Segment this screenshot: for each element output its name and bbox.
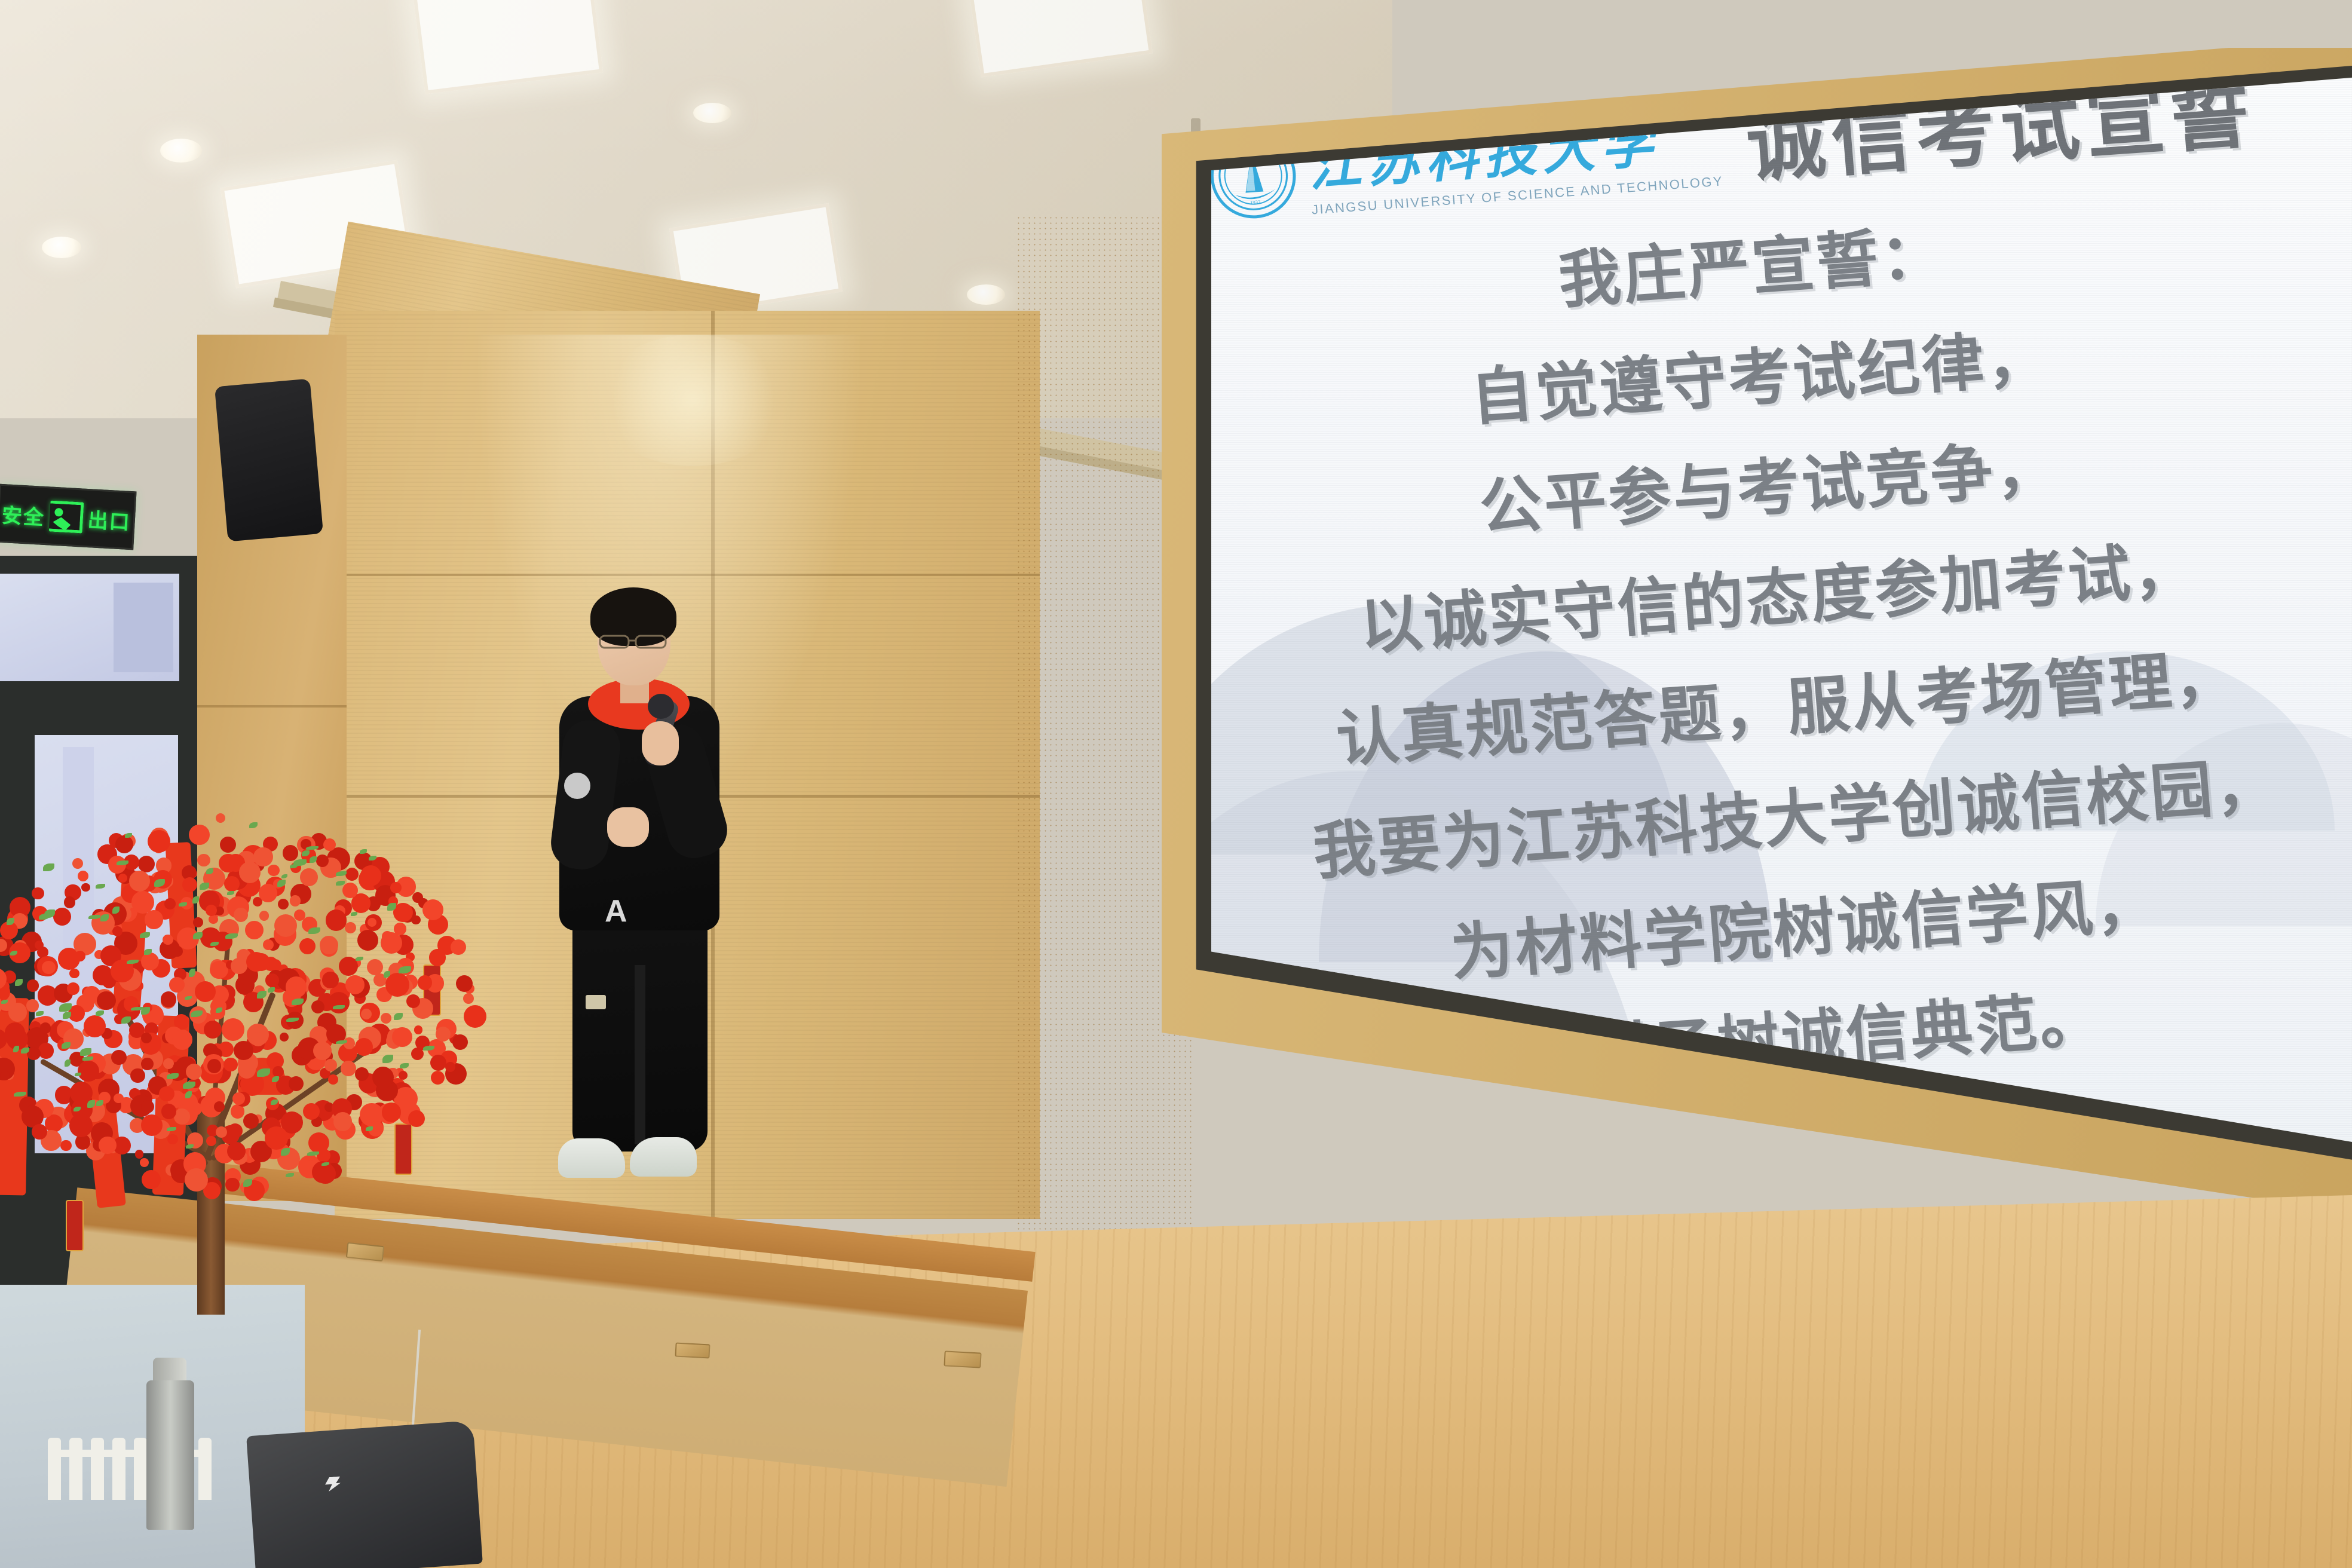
- blossom-petal: [283, 845, 299, 861]
- shoe-left: [558, 1138, 625, 1178]
- stage-monitor-speaker: [246, 1420, 483, 1568]
- picket-fence: [48, 1422, 221, 1500]
- tree-leaf: [356, 957, 363, 961]
- blossom-petal: [429, 949, 446, 966]
- blossom-petal: [206, 905, 217, 916]
- blossom-petal: [451, 939, 467, 955]
- blossom-petal: [97, 991, 116, 1010]
- blossom-petal: [78, 1061, 99, 1082]
- tree-leaf: [43, 863, 54, 871]
- blossom-petal: [204, 1021, 222, 1039]
- blossom-petal: [227, 1142, 246, 1160]
- wood-wall-seam: [197, 705, 347, 708]
- blossom-petal: [406, 994, 420, 1008]
- ceiling-downlight: [693, 103, 731, 123]
- wish-tag: [66, 1200, 84, 1251]
- blossom-petal: [141, 1100, 154, 1113]
- tree-leaf: [249, 822, 258, 828]
- blossom-petal: [67, 982, 79, 995]
- blossom-petal: [161, 991, 177, 1007]
- blossom-petal: [135, 1150, 144, 1159]
- blossom-petal: [224, 876, 240, 892]
- blossom-petal: [174, 1108, 189, 1124]
- blossom-petal: [399, 1071, 408, 1080]
- running-person-icon: [49, 500, 84, 533]
- blossom-petal: [322, 972, 338, 988]
- blossom-petal: [141, 953, 159, 970]
- tree-leaf: [96, 884, 105, 888]
- blossom-petal: [328, 1074, 338, 1085]
- ceiling-panel-light: [413, 0, 603, 94]
- blossom-petal: [75, 951, 85, 961]
- wish-tag: [394, 1123, 412, 1175]
- blossom-petal: [234, 908, 248, 922]
- tree-leaf: [268, 987, 275, 993]
- led-screen: 1933 江苏科技大学 JIANGSU UNIVERSITY OF SCIENC…: [1189, 66, 2352, 1255]
- fence-picket: [112, 1438, 125, 1500]
- blossom-petal: [140, 1158, 149, 1167]
- blossom-petal: [324, 1059, 336, 1071]
- blossom-petal: [38, 1043, 54, 1058]
- blossom-petal: [225, 1178, 239, 1192]
- blossom-petal: [84, 1015, 106, 1037]
- blossom-petal: [231, 958, 247, 975]
- blossom-petal: [239, 862, 261, 883]
- blossom-petal: [129, 871, 150, 892]
- svg-text:1933: 1933: [1250, 198, 1261, 205]
- speaker-person: A: [514, 583, 765, 1264]
- blossom-petal: [316, 855, 329, 867]
- tree-leaf: [82, 1056, 93, 1060]
- blossom-petal: [345, 975, 365, 994]
- tree-leaf: [200, 883, 209, 890]
- hand-on-chest: [607, 807, 649, 847]
- ceiling-downlight: [160, 139, 202, 163]
- tree-leaf: [65, 1059, 71, 1067]
- blossom-petal: [311, 1000, 324, 1013]
- blossom-petal: [372, 1067, 394, 1088]
- blossom-petal: [245, 921, 264, 939]
- blossom-petal: [268, 865, 279, 876]
- tree-leaf: [382, 1055, 393, 1063]
- exit-sign-label-left: 安全: [1, 499, 46, 531]
- blossom-petal: [355, 1067, 369, 1081]
- tree-leaf: [310, 856, 317, 863]
- blossom-petal: [317, 1149, 330, 1162]
- blossom-petal: [167, 1134, 178, 1145]
- blossom-petal: [393, 903, 413, 923]
- exit-sign-label-right: 出口: [87, 504, 132, 535]
- blossom-petal: [32, 887, 44, 899]
- blossom-petal: [223, 1058, 237, 1071]
- blossom-petal: [290, 895, 301, 906]
- tree-leaf: [292, 999, 304, 1005]
- tree-leaf: [400, 1063, 409, 1068]
- blossom-petal: [381, 1013, 391, 1024]
- tree-leaf: [88, 915, 100, 919]
- tree-leaf: [36, 1011, 44, 1015]
- blossom-petal: [286, 976, 307, 998]
- blossom-petal: [146, 911, 160, 926]
- fence-picket: [48, 1438, 61, 1500]
- blossom-petal: [463, 993, 474, 1004]
- tree-leaf: [15, 979, 23, 986]
- tree-leaf: [360, 849, 367, 854]
- blossom-petal: [159, 1086, 174, 1102]
- blossom-petal: [464, 1005, 487, 1028]
- blossom-petal: [259, 911, 269, 921]
- blossom-petal: [411, 915, 421, 925]
- blossom-petal: [141, 1058, 154, 1070]
- jacket-print-label: A: [605, 893, 629, 929]
- wood-wall-seam: [335, 574, 1040, 576]
- blossom-petal: [243, 1113, 259, 1129]
- auditorium-scene: 安全 出口: [0, 0, 2352, 1568]
- trouser-gap: [635, 965, 645, 1144]
- blossom-petal: [289, 1076, 304, 1091]
- blossom-petal: [392, 1027, 412, 1047]
- blossom-petal: [141, 1033, 152, 1043]
- blossom-petal: [40, 1022, 51, 1033]
- blossom-petal: [357, 930, 378, 951]
- ceiling-downlight: [967, 284, 1005, 305]
- fence-picket: [134, 1438, 147, 1500]
- hand-holding-microphone: [642, 721, 679, 765]
- blossom-petal: [81, 883, 90, 892]
- blossom-petal: [345, 868, 359, 881]
- glasses-icon: [599, 634, 670, 650]
- blossom-petal: [197, 854, 210, 866]
- blossom-petal: [206, 1136, 216, 1146]
- blossom-petal: [219, 854, 238, 873]
- blossom-petal: [360, 865, 382, 887]
- blossom-petal: [0, 1071, 10, 1080]
- blossom-petal: [299, 938, 316, 954]
- pledge-line: 自觉遵守考试纪律，: [1467, 307, 2054, 437]
- blossom-petal: [232, 1092, 245, 1105]
- blossom-petal: [333, 1112, 353, 1131]
- blossom-petal: [186, 1064, 202, 1080]
- tree-leaf: [308, 927, 320, 934]
- blossom-petal: [115, 835, 133, 853]
- tree-leaf: [293, 859, 307, 866]
- blossom-petal: [163, 935, 173, 945]
- blossom-petal: [69, 969, 79, 978]
- tree-leaf: [140, 932, 150, 938]
- blossom-petal: [300, 868, 318, 886]
- blossom-petal: [32, 1124, 47, 1139]
- outside-building: [114, 583, 173, 672]
- blossom-petal: [27, 979, 39, 991]
- blossom-petal: [234, 1041, 253, 1060]
- blossom-petal: [265, 973, 278, 987]
- blossom-petal: [141, 1114, 163, 1136]
- blossom-petal: [72, 858, 84, 869]
- tree-leaf: [192, 896, 199, 904]
- blossom-petal: [148, 830, 170, 853]
- blossom-petal: [185, 1168, 208, 1192]
- pledge-lead-in: 我庄严宣誓：: [1555, 203, 1949, 320]
- blossom-petal: [414, 1025, 422, 1034]
- fence-picket: [198, 1438, 212, 1500]
- sleeve-badge-icon: [564, 773, 590, 799]
- blossom-petal: [64, 896, 75, 908]
- tree-leaf: [394, 1013, 403, 1020]
- stage-floor-outlet: [944, 1350, 981, 1368]
- blossom-petal: [344, 1037, 356, 1049]
- blossom-petal: [130, 1068, 145, 1083]
- blossom-petal: [111, 1050, 127, 1065]
- blossom-petal: [345, 922, 356, 933]
- trouser-tag: [586, 995, 606, 1009]
- blossom-petal: [142, 1170, 161, 1189]
- stage-floor-outlet: [675, 1342, 710, 1358]
- blossom-petal: [278, 899, 289, 909]
- blossom-petal: [382, 931, 393, 942]
- ceiling-panel-light: [969, 0, 1153, 77]
- blossom-petal: [60, 1140, 72, 1151]
- blossom-petal: [431, 1071, 445, 1085]
- fence-picket: [91, 1438, 104, 1500]
- blossom-petal: [222, 1018, 244, 1041]
- blossom-petal: [408, 1110, 425, 1127]
- tree-leaf: [87, 1100, 94, 1107]
- blossom-petal: [246, 952, 266, 972]
- microphone-head[interactable]: [648, 694, 674, 719]
- tree-leaf: [39, 914, 50, 920]
- blossom-petal: [53, 908, 71, 926]
- ceiling-downlight: [42, 237, 81, 258]
- blossom-petal: [280, 1033, 289, 1042]
- blossom-petal: [452, 1034, 468, 1050]
- blossom-petal: [251, 1032, 265, 1046]
- blossom-petal: [207, 1059, 221, 1073]
- exit-sign: 安全 出口: [0, 484, 137, 550]
- blossom-petal: [430, 1055, 446, 1071]
- tree-leaf: [286, 1173, 294, 1177]
- tree-leaf: [333, 1005, 345, 1009]
- blossom-petal: [328, 992, 350, 1013]
- tree-leaf: [281, 874, 287, 879]
- ceiling-speaker: [215, 379, 323, 542]
- tree-leaf: [351, 912, 357, 916]
- tree-leaf: [225, 933, 238, 939]
- tree-leaf: [227, 891, 234, 895]
- fire-extinguisher: [146, 1380, 194, 1530]
- blossom-petal: [385, 973, 409, 997]
- blossom-petal: [193, 917, 203, 927]
- blossom-petal: [163, 1058, 174, 1069]
- blossom-petal: [436, 1027, 451, 1042]
- tree-leaf: [336, 881, 345, 886]
- blossom-petal: [26, 999, 39, 1012]
- shoe-right: [630, 1137, 697, 1177]
- blossom-petal: [418, 975, 432, 990]
- blossom-petal: [220, 837, 236, 853]
- speaker-brand-mark: [324, 1477, 341, 1492]
- blossom-petal: [382, 1102, 401, 1122]
- blossom-petal: [320, 936, 338, 954]
- red-blossom-tree: []: [0, 801, 502, 1315]
- fence-picket: [69, 1438, 82, 1500]
- blossom-petal: [172, 1030, 192, 1050]
- blossom-petal: [78, 871, 88, 881]
- blossom-petal: [274, 914, 297, 937]
- blossom-petal: [182, 877, 197, 892]
- blossom-petal: [209, 915, 218, 924]
- blossom-petal: [99, 1137, 116, 1154]
- blossom-petal: [341, 1061, 356, 1076]
- blossom-petal: [138, 856, 155, 873]
- blossom-petal: [189, 825, 210, 846]
- blossom-petal: [326, 909, 347, 931]
- blossom-petal: [164, 898, 176, 909]
- pledge-line: 公平参与考试竞争，: [1476, 417, 2063, 547]
- tree-leaf: [96, 1010, 104, 1016]
- blossom-petal: [216, 813, 225, 823]
- tree-leaf: [257, 991, 267, 999]
- tree-leaf: [387, 903, 396, 911]
